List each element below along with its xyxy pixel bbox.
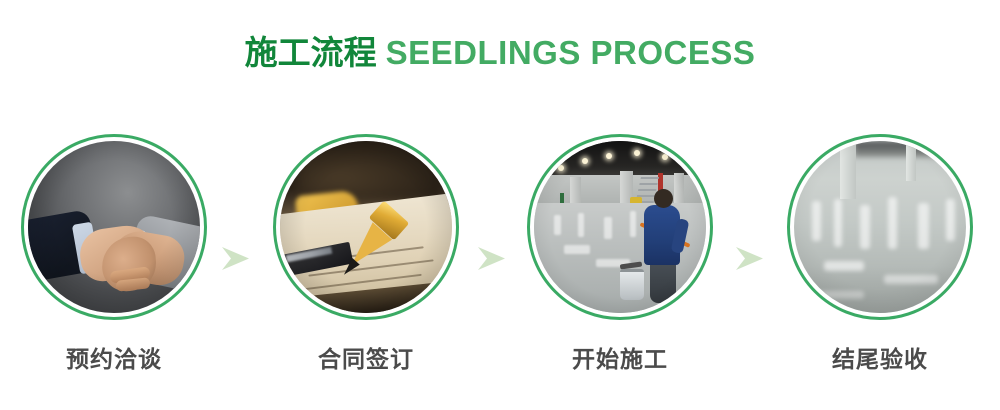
step-1-label: 预约洽谈 [20, 348, 208, 371]
step-4-circle-frame [787, 134, 973, 320]
step-3-label: 开始施工 [526, 348, 714, 371]
step-2-label: 合同签订 [272, 348, 460, 371]
arrow-step2-to-step3-icon [476, 244, 506, 274]
step-2-circle-frame [273, 134, 459, 320]
process-step-4[interactable]: 结尾验收 [786, 134, 974, 384]
process-steps: 预约洽谈 合同签订 [0, 134, 1000, 384]
arrow-step1-to-step2-icon [220, 244, 250, 274]
arrow-step3-to-step4-icon [734, 244, 764, 274]
process-step-2[interactable]: 合同签订 [272, 134, 460, 384]
floor-construction-photo [534, 141, 706, 313]
page-title: 施工流程SEEDLINGS PROCESS [0, 26, 1000, 74]
step-1-circle-frame [21, 134, 207, 320]
page-title-chinese: 施工流程 [245, 34, 377, 71]
handshake-photo [28, 141, 200, 313]
step-4-label: 结尾验收 [786, 348, 974, 371]
contract-signing-photo [280, 141, 452, 313]
finished-floor-photo [794, 141, 966, 313]
step-3-circle-frame [527, 134, 713, 320]
page-title-english: SEEDLINGS PROCESS [386, 34, 756, 71]
process-step-1[interactable]: 预约洽谈 [20, 134, 208, 384]
process-step-3[interactable]: 开始施工 [526, 134, 714, 384]
